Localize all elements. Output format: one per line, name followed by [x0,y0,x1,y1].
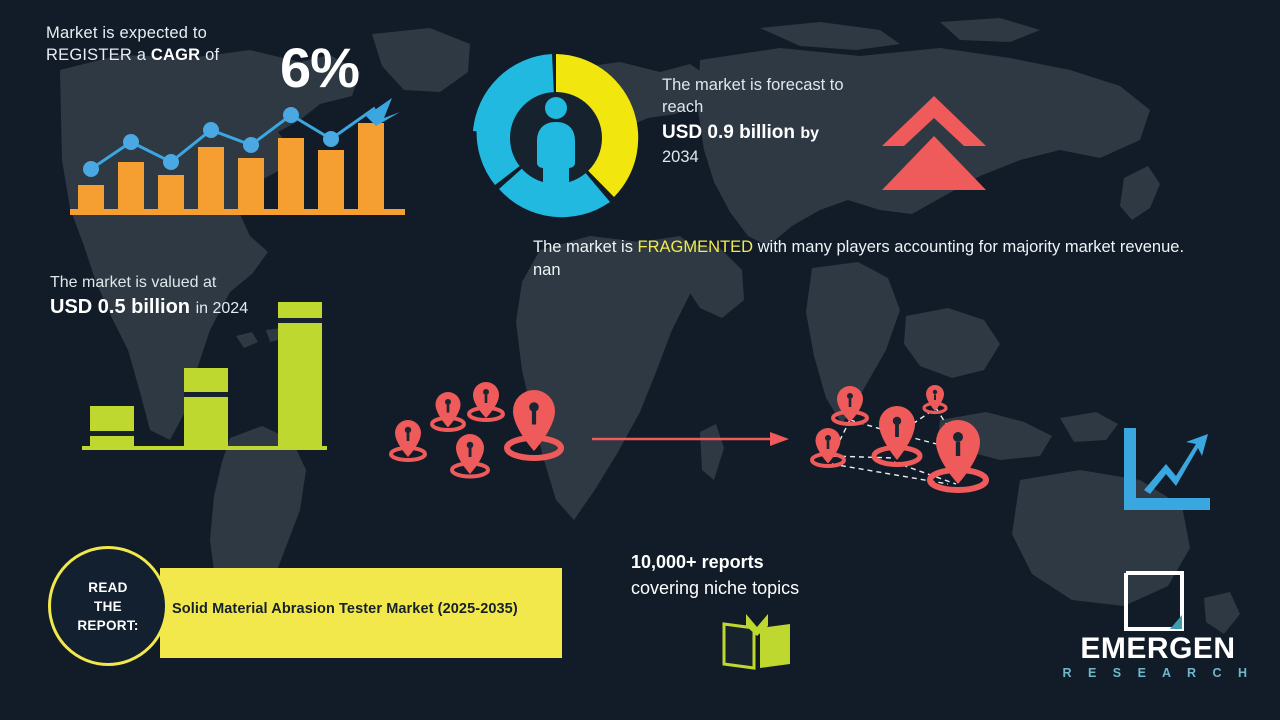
location-pins-right-cluster [798,380,1013,502]
badge-line3: REPORT: [77,616,138,635]
location-pins-left-cluster [378,382,578,497]
market-value-bar-chart: 2022 2023 2024 [72,296,337,476]
bar-2024 [278,302,322,446]
forecast-value: USD 0.9 billion [662,122,795,143]
bar-2023 [184,368,228,446]
infographic-canvas: Market is expected to REGISTER a CAGR of… [0,0,1280,720]
green-chart-axis [82,446,327,450]
map-pin-icon [391,420,425,460]
map-pin-icon [930,420,986,490]
cagr-caption: Market is expected to REGISTER a CAGR of [46,22,286,66]
map-pin-icon [452,434,488,477]
map-pin-icon [833,386,867,424]
map-pin-icon [924,385,946,413]
logo-square-icon [1123,570,1185,632]
cagr-line2-suffix: of [200,46,219,64]
forecast-caption: The market is forecast to reach [662,74,892,118]
open-book-icon [722,612,792,670]
cagr-block: Market is expected to REGISTER a CAGR of… [46,22,466,66]
forecast-value-row: USD 0.9 billion by [662,120,892,147]
cagr-label: CAGR [151,46,200,64]
frag-highlight: FRAGMENTED [638,238,754,256]
forecast-line1: The market is forecast to [662,76,844,94]
zigzag-arrow-icon [1144,434,1208,494]
map-pin-icon [812,428,844,466]
market-structure-statement: The market is FRAGMENTED with many playe… [533,236,1205,282]
forecast-block: The market is forecast to reach USD 0.9 … [662,74,892,167]
badge-line1: READ [88,578,127,597]
badge-line2: THE [94,597,122,616]
chart-baseline [70,209,405,215]
logo-subtext: R E S E A R C H [1060,666,1256,680]
reports-count-block: 10,000+ reports covering niche topics [631,549,891,601]
reports-line1: 10,000+ reports [631,552,764,572]
valued-caption: The market is valued at [50,272,350,293]
logo-wordmark: EMERGEN [1060,632,1256,666]
growth-trend-chart [70,86,415,221]
market-share-donut [462,48,650,228]
report-title: Solid Material Abrasion Tester Market (2… [172,601,552,617]
bar-2022 [90,406,134,446]
bar-2024-divider [278,318,322,323]
forecast-by-label: by [800,125,819,142]
reports-caption: 10,000+ reports covering niche topics [631,549,891,601]
bar-2023-divider [184,392,228,397]
growth-chart-icon [1118,424,1214,516]
bar-2022-divider [90,431,134,436]
cagr-line1: Market is expected to [46,24,207,42]
cagr-line2-prefix: REGISTER a [46,46,151,64]
map-pin-icon [469,382,503,420]
read-report-badge[interactable]: READ THE REPORT: [48,546,168,666]
map-pin-icon [432,392,464,430]
flow-arrow-icon [592,428,792,450]
frag-prefix: The market is [533,238,638,256]
reports-line2: covering niche topics [631,578,799,598]
map-pin-icon [874,406,920,465]
forecast-year: 2034 [662,147,892,167]
forecast-line2: reach [662,98,703,116]
upward-chevrons-icon [878,92,990,194]
read-report-badge-text: READ THE REPORT: [51,549,165,663]
emergen-research-logo: EMERGEN R E S E A R C H [1060,570,1256,690]
map-pin-icon [507,390,561,458]
